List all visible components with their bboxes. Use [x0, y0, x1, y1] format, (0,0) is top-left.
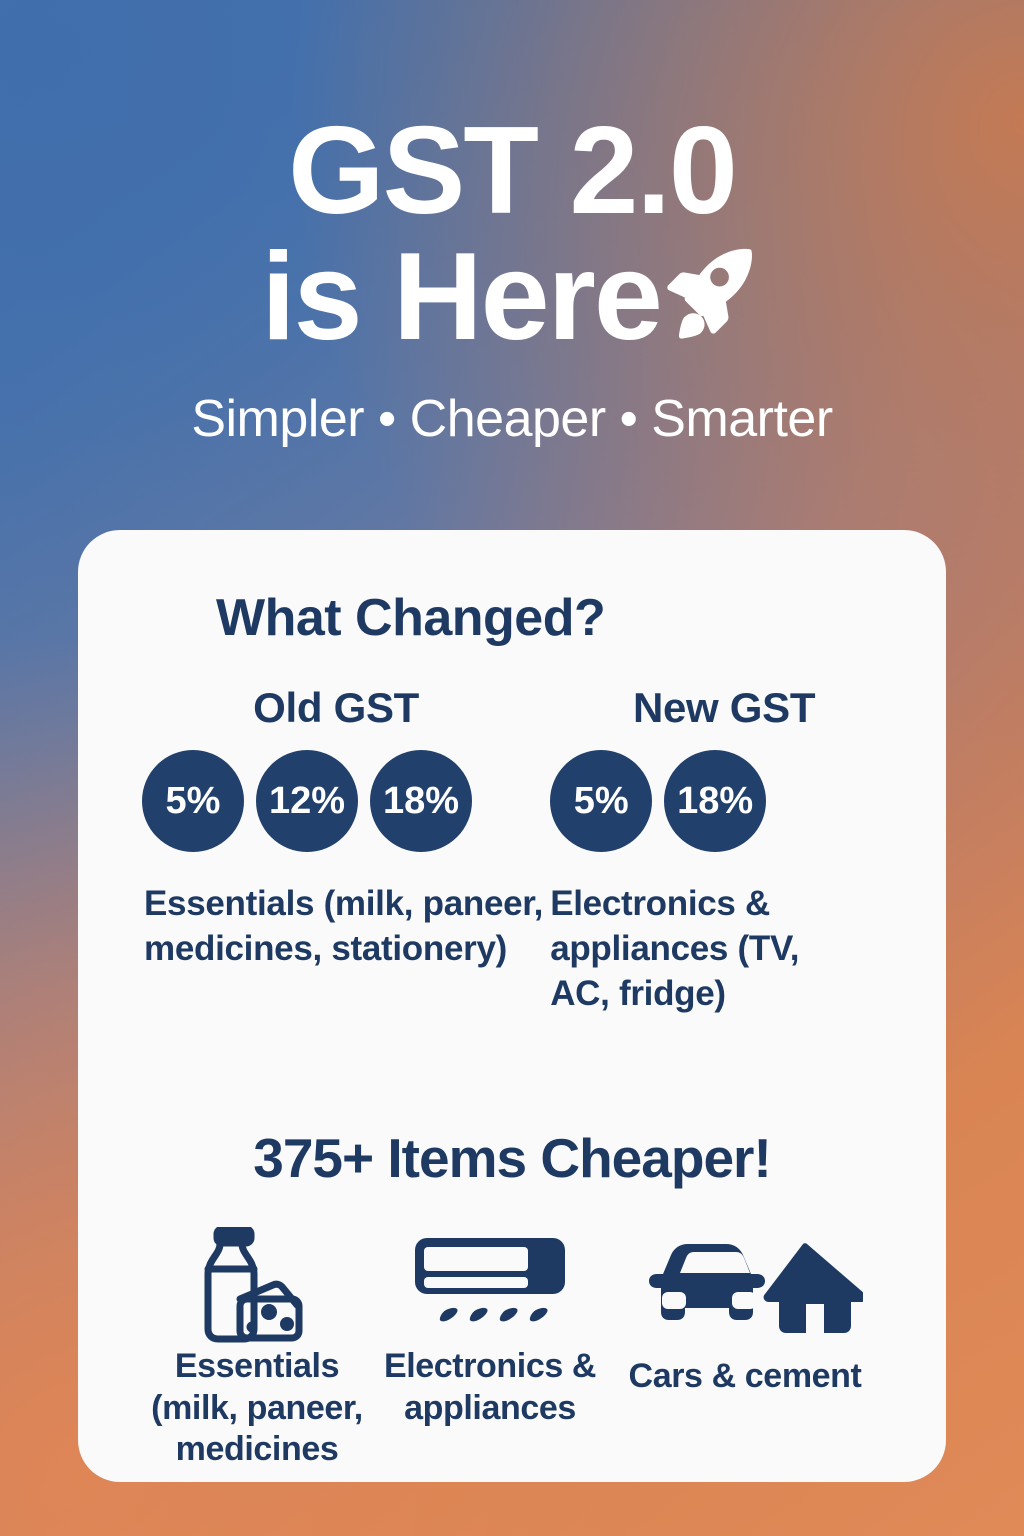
air-conditioner-icon — [376, 1226, 604, 1346]
new-gst-heading: New GST — [560, 684, 888, 732]
old-gst-rate-list: 5% 12% 18% — [142, 750, 546, 852]
poster-canvas: GST 2.0 is Here Simpler • Cheaper • Smar… — [0, 0, 1024, 1536]
rate-bubble: 18% — [370, 750, 472, 852]
hero-section: GST 2.0 is Here Simpler • Cheaper • Smar… — [0, 0, 1024, 449]
category-label: Electronics & appliances — [376, 1346, 604, 1429]
hero-subtitle: Simpler • Cheaper • Smarter — [0, 389, 1024, 449]
new-gst-description: Electronics & appliances (TV, AC, fridge… — [550, 882, 850, 1016]
old-gst-column: Old GST 5% 12% 18% Essentials (milk, pan… — [136, 684, 546, 1016]
rate-bubble: 5% — [142, 750, 244, 852]
category-label: Cars & cement — [604, 1356, 886, 1397]
gst-comparison: Old GST 5% 12% 18% Essentials (milk, pan… — [136, 684, 888, 1016]
hero-title-line1: GST 2.0 — [288, 102, 736, 240]
category-label: Essentials (milk, paneer, medicines — [138, 1346, 376, 1470]
new-gst-rate-list: 5% 18% — [550, 750, 888, 852]
items-cheaper-highlight: 375+ Items Cheaper! — [136, 1126, 888, 1190]
category-item: Cars & cement — [604, 1226, 886, 1470]
page-title: GST 2.0 is Here — [0, 108, 1024, 367]
category-item: Electronics & appliances — [376, 1226, 604, 1470]
milk-bottle-cheese-icon — [138, 1226, 376, 1346]
rate-bubble: 5% — [550, 750, 652, 852]
category-list: Essentials (milk, paneer, medicines — [136, 1226, 888, 1470]
info-card: What Changed? Old GST 5% 12% 18% Essenti… — [78, 530, 946, 1482]
rate-bubble: 12% — [256, 750, 358, 852]
rocket-icon — [659, 240, 763, 366]
category-item: Essentials (milk, paneer, medicines — [138, 1226, 376, 1470]
new-gst-column: New GST 5% 18% Electronics & appliances … — [546, 684, 888, 1016]
car-house-icon — [604, 1226, 886, 1346]
rate-bubble: 18% — [664, 750, 766, 852]
old-gst-heading: Old GST — [126, 684, 546, 732]
card-title: What Changed? — [216, 588, 888, 648]
hero-title-line2: is Here — [261, 228, 661, 366]
old-gst-description: Essentials (milk, paneer, medicines, sta… — [144, 882, 546, 972]
